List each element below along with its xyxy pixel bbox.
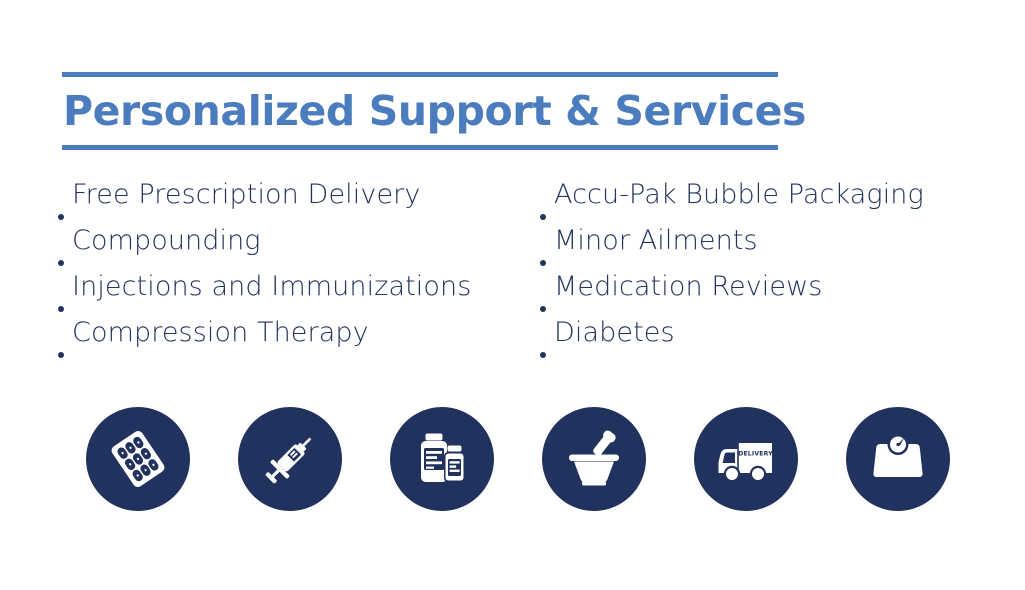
list-item: Medication Reviews [538, 270, 924, 316]
delivery-truck-icon: DELIVERY [713, 426, 779, 492]
truck-delivery-text: DELIVERY [738, 451, 773, 458]
list-item-label: Injections and Immunizations [72, 270, 471, 304]
list-item: Compounding [56, 224, 471, 270]
list-item: Injections and Immunizations [56, 270, 471, 316]
list-item-label: Minor Ailments [554, 224, 758, 258]
mortar-and-pestle-icon [562, 427, 626, 491]
list-item: Minor Ailments [538, 224, 924, 270]
icon-badge-weight-scale [846, 407, 950, 511]
icon-badge-delivery-truck: DELIVERY [694, 407, 798, 511]
icon-badge-syringe [238, 407, 342, 511]
services-column-left: Free Prescription Delivery Compounding I… [56, 178, 471, 362]
list-item-label: Compounding [72, 224, 261, 258]
icon-badge-mortar-pestle [542, 407, 646, 511]
syringe-icon [258, 427, 322, 491]
list-item-label: Medication Reviews [554, 270, 822, 304]
page-title: Personalized Support & Services [62, 77, 778, 145]
services-lists: Free Prescription Delivery Compounding I… [0, 178, 1025, 368]
title-rule-bottom [62, 145, 778, 150]
icon-badge-pill-bottles [390, 407, 494, 511]
slide-canvas: Personalized Support & Services Free Pre… [0, 0, 1025, 590]
list-item: Compression Therapy [56, 316, 471, 362]
list-item-label: Free Prescription Delivery [72, 178, 420, 212]
service-icon-row: DELIVERY [86, 407, 950, 511]
pill-bottles-icon [411, 428, 473, 490]
list-item: Accu-Pak Bubble Packaging [538, 178, 924, 224]
services-column-right: Accu-Pak Bubble Packaging Minor Ailments… [538, 178, 924, 362]
list-item: Diabetes [538, 316, 924, 362]
title-block: Personalized Support & Services [62, 72, 778, 150]
list-item-label: Compression Therapy [72, 316, 369, 350]
icon-badge-blister-pack [86, 407, 190, 511]
list-item-label: Accu-Pak Bubble Packaging [554, 178, 924, 212]
list-item-label: Diabetes [554, 316, 675, 350]
weight-scale-icon [867, 428, 929, 490]
list-item: Free Prescription Delivery [56, 178, 471, 224]
blister-pack-icon [107, 428, 169, 490]
